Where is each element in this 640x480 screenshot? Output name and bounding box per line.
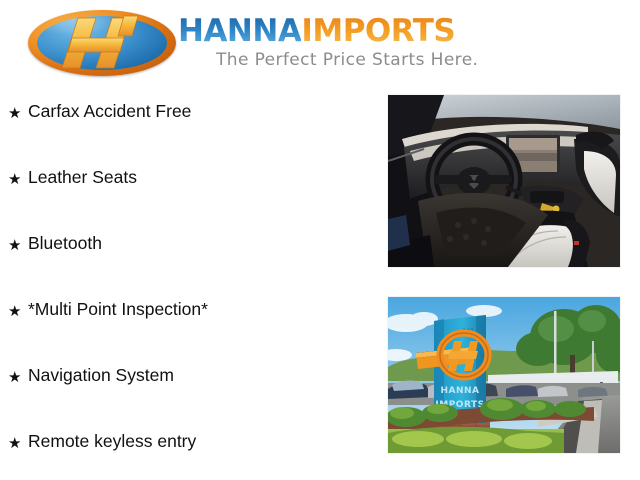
feature-label: *Multi Point Inspection* bbox=[28, 298, 208, 320]
vehicle-interior-image bbox=[388, 95, 620, 267]
brand-word-hanna: HANNA bbox=[178, 13, 301, 49]
list-item: ★ *Multi Point Inspection* bbox=[0, 298, 380, 364]
brand-word-imports: IMPORTS bbox=[301, 13, 455, 49]
brand-tagline: The Perfect Price Starts Here. bbox=[216, 50, 478, 70]
feature-label: Leather Seats bbox=[28, 166, 137, 188]
feature-label: Bluetooth bbox=[28, 232, 102, 254]
star-bullet-icon: ★ bbox=[8, 170, 21, 190]
feature-label: Carfax Accident Free bbox=[28, 100, 191, 122]
star-bullet-icon: ★ bbox=[8, 302, 21, 322]
hanna-h-oval-logo-icon bbox=[28, 10, 176, 76]
dealership-sign-image: 240 HANNA IMPORTS bbox=[388, 297, 620, 453]
star-bullet-icon: ★ bbox=[8, 104, 21, 124]
logo-h-glyph-icon bbox=[28, 10, 176, 76]
star-bullet-icon: ★ bbox=[8, 368, 21, 388]
site-header: HANNAIMPORTS The Perfect Price Starts He… bbox=[0, 0, 640, 88]
feature-label: Navigation System bbox=[28, 364, 174, 386]
vehicle-interior-photo[interactable] bbox=[388, 95, 620, 267]
list-item: ★ Bluetooth bbox=[0, 232, 380, 298]
dealership-sign-photo[interactable]: 240 HANNA IMPORTS bbox=[388, 297, 620, 453]
list-item: ★ Navigation System bbox=[0, 364, 380, 430]
vehicle-features-list: ★ Carfax Accident Free ★ Leather Seats ★… bbox=[0, 100, 380, 480]
list-item: ★ Remote keyless entry bbox=[0, 430, 380, 480]
star-bullet-icon: ★ bbox=[8, 236, 21, 256]
vehicle-listing-page: HANNAIMPORTS The Perfect Price Starts He… bbox=[0, 0, 640, 480]
svg-text:HANNA: HANNA bbox=[440, 386, 479, 396]
brand-wordmark: HANNAIMPORTS bbox=[178, 14, 455, 48]
feature-label: Remote keyless entry bbox=[28, 430, 196, 452]
star-bullet-icon: ★ bbox=[8, 434, 21, 454]
list-item: ★ Carfax Accident Free bbox=[0, 100, 380, 166]
list-item: ★ Leather Seats bbox=[0, 166, 380, 232]
